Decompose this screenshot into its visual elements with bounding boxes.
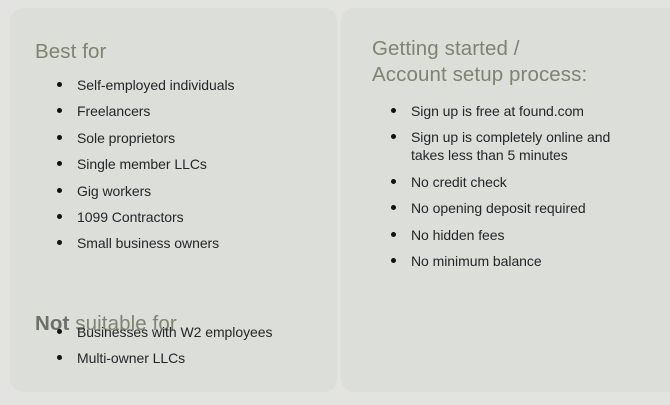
bullet-icon	[391, 179, 396, 184]
best-for-heading: Best for	[35, 39, 106, 65]
list-item-label: No credit check	[411, 174, 507, 190]
list-item: Sign up is completely online and takes l…	[390, 128, 613, 164]
bullet-icon	[57, 329, 62, 334]
list-item-label: Gig workers	[77, 183, 151, 199]
bullet-icon	[57, 188, 62, 193]
best-for-panel: Best for Self-employed individuals Freel…	[10, 8, 337, 392]
getting-started-heading: Getting started / Account setup process:	[372, 36, 587, 88]
bullet-icon	[57, 82, 62, 87]
list-item-label: No hidden fees	[411, 227, 504, 243]
not-suitable-for-list: Businesses with W2 employees Multi-owner…	[56, 323, 272, 376]
list-item-label: Freelancers	[77, 103, 150, 119]
list-item-label: Small business owners	[77, 235, 219, 251]
list-item-label: Multi-owner LLCs	[77, 350, 185, 366]
list-item: Self-employed individuals	[56, 76, 235, 94]
getting-started-panel-content: Getting started / Account setup process:…	[341, 8, 670, 392]
list-item-label: Sign up is completely online and takes l…	[411, 129, 610, 163]
list-item: Multi-owner LLCs	[56, 349, 272, 367]
best-for-panel-content: Best for Self-employed individuals Freel…	[10, 8, 337, 392]
bullet-icon	[391, 134, 396, 139]
bullet-icon	[57, 161, 62, 166]
bullet-icon	[57, 214, 62, 219]
list-item-label: Single member LLCs	[77, 156, 207, 172]
list-item: No minimum balance	[390, 252, 613, 270]
bullet-icon	[57, 135, 62, 140]
list-item: Sole proprietors	[56, 129, 235, 147]
bullet-icon	[57, 108, 62, 113]
list-item-label: No minimum balance	[411, 253, 542, 269]
list-item-label: Businesses with W2 employees	[77, 324, 272, 340]
bullet-icon	[391, 205, 396, 210]
getting-started-panel: Getting started / Account setup process:…	[341, 8, 670, 392]
list-item: No credit check	[390, 173, 613, 191]
list-item: Single member LLCs	[56, 155, 235, 173]
list-item: Small business owners	[56, 234, 235, 252]
bullet-icon	[391, 232, 396, 237]
bullet-icon	[391, 108, 396, 113]
list-item: 1099 Contractors	[56, 208, 235, 226]
list-item: Gig workers	[56, 182, 235, 200]
list-item: Businesses with W2 employees	[56, 323, 272, 341]
getting-started-list: Sign up is free at found.com Sign up is …	[390, 102, 613, 278]
list-item-label: Self-employed individuals	[77, 77, 235, 93]
list-item: No opening deposit required	[390, 199, 613, 217]
bullet-icon	[391, 258, 396, 263]
list-item-label: Sole proprietors	[77, 130, 175, 146]
list-item: No hidden fees	[390, 226, 613, 244]
list-item: Freelancers	[56, 102, 235, 120]
comparison-panels-root: Best for Self-employed individuals Freel…	[0, 0, 670, 405]
list-item: Sign up is free at found.com	[390, 102, 613, 120]
bullet-icon	[57, 240, 62, 245]
best-for-list: Self-employed individuals Freelancers So…	[56, 76, 235, 261]
bullet-icon	[57, 355, 62, 360]
list-item-label: Sign up is free at found.com	[411, 103, 584, 119]
list-item-label: No opening deposit required	[411, 200, 586, 216]
list-item-label: 1099 Contractors	[77, 209, 184, 225]
